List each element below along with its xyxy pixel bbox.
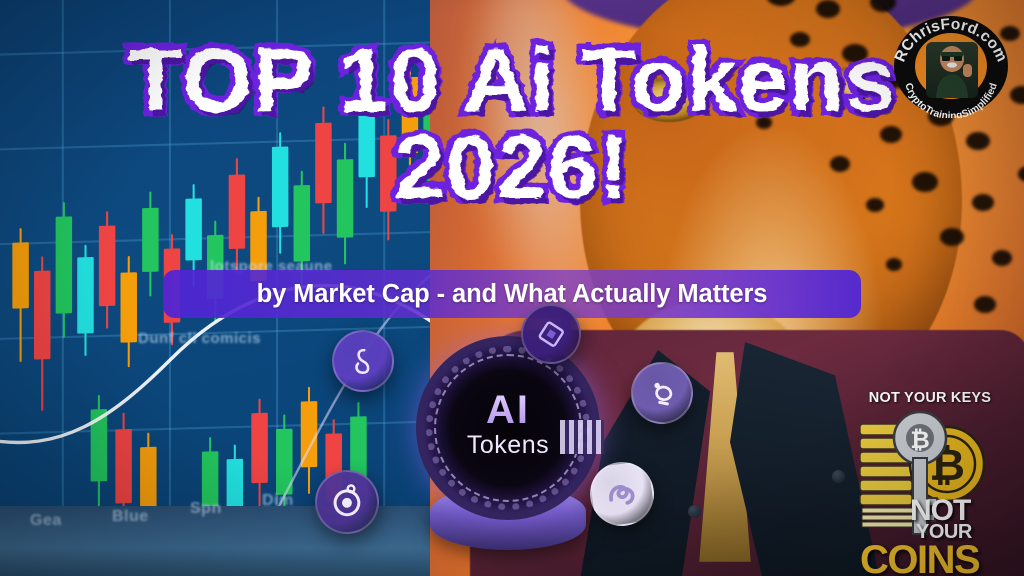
leopard-spot [756, 116, 772, 129]
not-your-keys-badge: NOT YOUR KEYS ₿ [854, 390, 1006, 570]
candle-body [121, 272, 137, 343]
leopard-spot [966, 132, 990, 150]
candle-body [272, 146, 288, 227]
candle-body [77, 257, 93, 334]
atom-orbit-glyph-icon [323, 478, 370, 525]
leopard-spot [992, 250, 1012, 266]
suit-button-2 [832, 470, 845, 483]
leopard-spot [912, 172, 938, 192]
suit-button-1 [688, 505, 701, 518]
left-pupil [662, 86, 678, 114]
candle-body [229, 174, 245, 249]
chart-axis-label-1: Blue [112, 508, 149, 526]
candle-body [358, 97, 374, 178]
leopard-spot [972, 194, 994, 211]
keys-badge-top-line: NOT YOUR KEYS [854, 390, 1006, 406]
leopard-right-eye [822, 66, 896, 110]
orb-label-block: AI Tokens [416, 388, 600, 460]
candle-body [185, 198, 201, 260]
chart-axis-label-0: Gea [30, 512, 62, 530]
leopard-spot [776, 82, 794, 96]
candle-body [12, 242, 28, 308]
orb-disc: AI Tokens [416, 336, 600, 520]
orb-label-ai: AI [416, 388, 600, 433]
leopard-spot [886, 258, 902, 271]
candle-body [337, 159, 353, 238]
candle-body [380, 135, 396, 212]
wave-glyph-icon [598, 470, 645, 517]
grid-line-vertical [383, 0, 385, 525]
circle-dash-glyph-icon [641, 372, 683, 414]
candle-body [115, 429, 131, 504]
leopard-spot [830, 156, 850, 172]
candle-body [315, 123, 331, 204]
candle-body [301, 401, 317, 467]
creator-avatar [926, 42, 978, 98]
avatar-person-icon [926, 42, 978, 98]
chart-overlay-text-2: Dunf cli comicis [138, 330, 261, 347]
chart-axis-label-2: Spn [190, 500, 222, 518]
keys-badge-coins: COINS [860, 538, 979, 576]
candle-body [402, 77, 418, 154]
right-pupil [852, 74, 868, 102]
leopard-spot [880, 126, 902, 143]
candle-body [99, 225, 115, 306]
infinity-glyph-icon [344, 342, 381, 379]
leopard-spot [866, 198, 884, 212]
candle-body [34, 271, 50, 360]
candle-body [251, 413, 267, 484]
channel-logo-badge[interactable]: RChrisFord.com CryptoTrainingSimplified [890, 14, 1012, 118]
leopard-left-eye [632, 78, 706, 122]
candle-body [91, 409, 107, 482]
subtitle-bar: by Market Cap - and What Actually Matter… [163, 270, 861, 318]
leopard-spot [842, 44, 868, 63]
candle-body [276, 429, 292, 495]
candle-body [294, 185, 310, 262]
chart-axis-label-3: Dim [262, 492, 294, 510]
thumbnail-canvas: lotspore seaune Dunf cli comicis Gea Blu… [0, 0, 1024, 576]
subtitle-text: by Market Cap - and What Actually Matter… [257, 280, 768, 309]
candle-body [140, 447, 156, 511]
ai-tokens-orb: AI Tokens [408, 336, 608, 551]
leopard-spot [816, 0, 840, 18]
leopard-spot [940, 228, 964, 246]
svg-text:₿: ₿ [910, 427, 930, 454]
candle-body [56, 216, 72, 313]
candle-body [142, 208, 158, 272]
leopard-spot [790, 32, 810, 47]
orb-label-tokens: Tokens [416, 431, 600, 460]
diamond-glyph-icon [532, 315, 571, 354]
leopard-spot [974, 296, 996, 313]
